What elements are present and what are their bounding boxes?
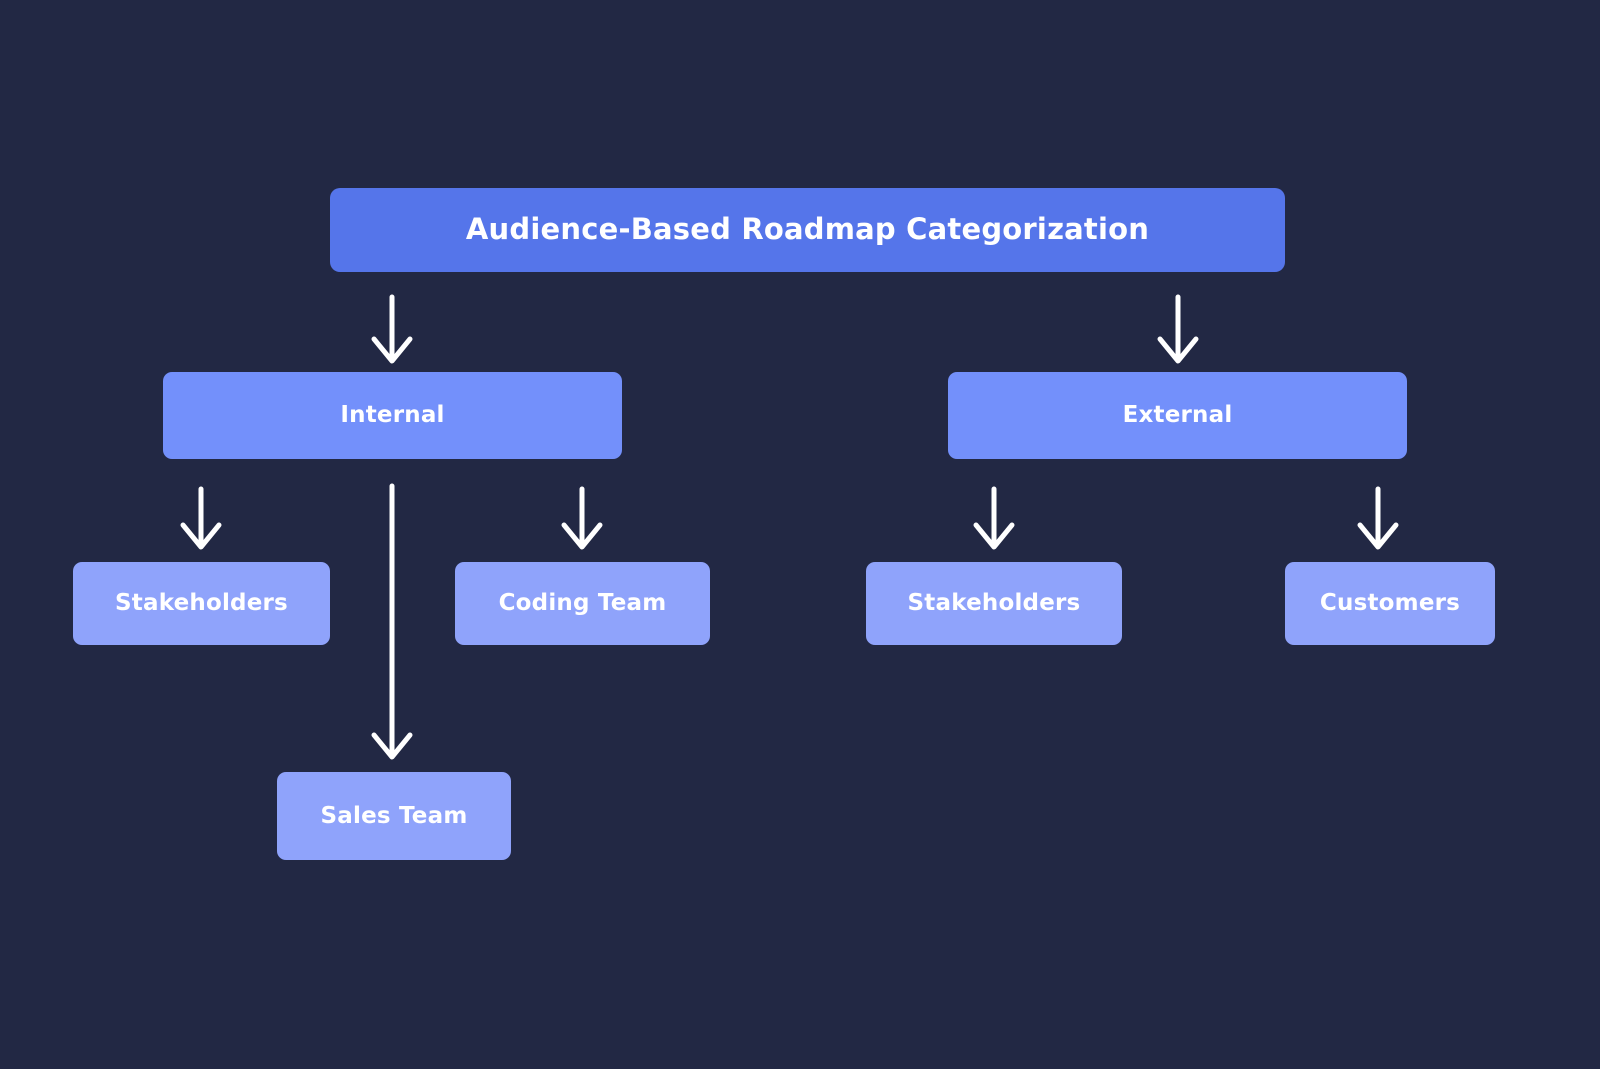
connector-internal-to-stakeholders <box>183 489 219 547</box>
node-leaf-coding-team-label: Coding Team <box>499 590 667 616</box>
node-branch-external[interactable]: External <box>948 372 1407 459</box>
node-leaf-external-stakeholders-label: Stakeholders <box>908 590 1081 616</box>
connector-root-to-external <box>1160 297 1196 361</box>
node-leaf-sales-team[interactable]: Sales Team <box>277 772 511 860</box>
node-branch-internal-label: Internal <box>340 402 444 428</box>
node-leaf-sales-team-label: Sales Team <box>321 803 468 829</box>
node-leaf-coding-team[interactable]: Coding Team <box>455 562 710 645</box>
node-branch-external-label: External <box>1123 402 1233 428</box>
connector-external-to-customers <box>1360 489 1396 547</box>
node-root-audience-based-roadmap-categorization[interactable]: Audience-Based Roadmap Categorization <box>330 188 1285 272</box>
node-root-label: Audience-Based Roadmap Categorization <box>466 213 1149 246</box>
connector-internal-to-sales-team <box>374 486 410 757</box>
node-leaf-external-stakeholders[interactable]: Stakeholders <box>866 562 1122 645</box>
connector-layer <box>0 0 1600 1069</box>
node-leaf-customers[interactable]: Customers <box>1285 562 1495 645</box>
connector-root-to-internal <box>374 297 410 361</box>
node-leaf-customers-label: Customers <box>1320 590 1460 616</box>
connector-external-to-stakeholders <box>976 489 1012 547</box>
node-leaf-internal-stakeholders-label: Stakeholders <box>115 590 288 616</box>
connector-internal-to-coding-team <box>564 489 600 547</box>
node-leaf-internal-stakeholders[interactable]: Stakeholders <box>73 562 330 645</box>
diagram-canvas: Audience-Based Roadmap Categorization In… <box>0 0 1600 1069</box>
node-branch-internal[interactable]: Internal <box>163 372 622 459</box>
